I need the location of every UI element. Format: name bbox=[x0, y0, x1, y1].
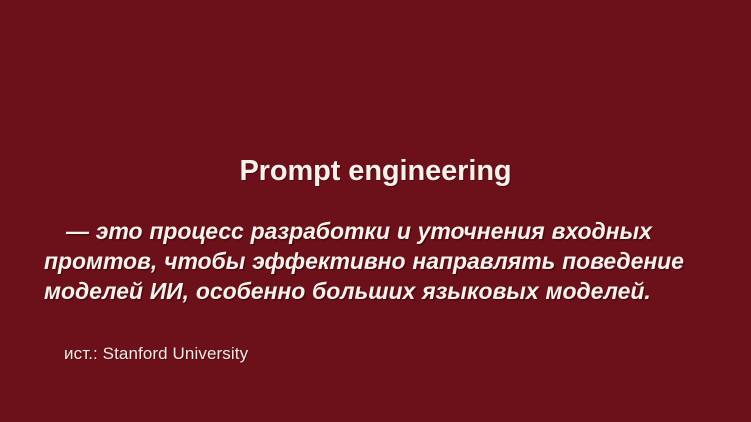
presentation-slide: Prompt engineering — это процесс разрабо… bbox=[0, 0, 751, 422]
slide-source-credit: ист.: Stanford University bbox=[64, 344, 248, 364]
slide-title: Prompt engineering bbox=[0, 153, 751, 189]
slide-definition-text: — это процесс разработки и уточнения вхо… bbox=[44, 216, 710, 306]
